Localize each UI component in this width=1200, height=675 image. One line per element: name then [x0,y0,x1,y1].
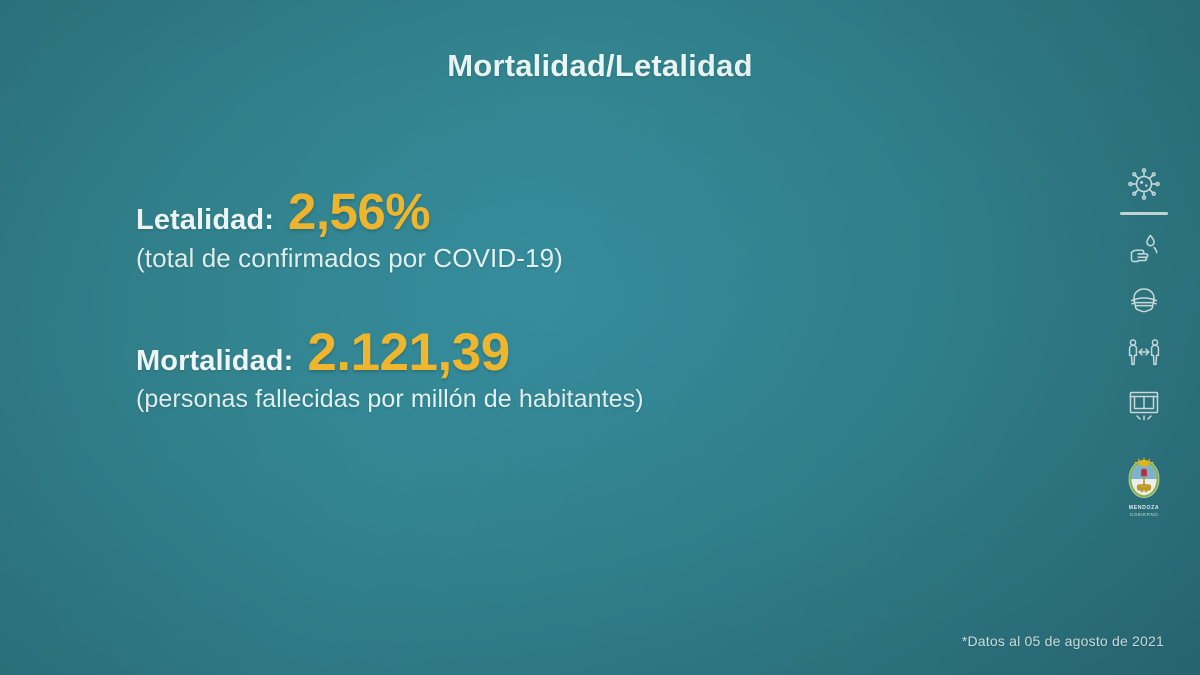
stat-mortalidad: Mortalidad: 2.121,39 (personas fallecida… [136,326,644,414]
stat-mortalidad-line: Mortalidad: 2.121,39 [136,326,644,379]
page-title: Mortalidad/Letalidad [0,48,1200,84]
slide-canvas: Mortalidad/Letalidad Letalidad: 2,56% (t… [0,0,1200,675]
coronavirus-icon [1124,164,1164,204]
data-date-footnote: *Datos al 05 de agosto de 2021 [962,633,1164,649]
stat-letalidad: Letalidad: 2,56% (total de confirmados p… [136,186,644,274]
stat-letalidad-label: Letalidad: [136,204,274,237]
stat-letalidad-value: 2,56% [288,186,430,237]
stats-group: Letalidad: 2,56% (total de confirmados p… [136,186,644,414]
stat-letalidad-line: Letalidad: 2,56% [136,186,644,237]
stat-letalidad-caption: (total de confirmados por COVID-19) [136,243,644,274]
hand-washing-icon [1124,229,1164,269]
prevention-icon-rail: MENDOZA GOBIERNO [1112,164,1176,517]
crest-svg [1122,451,1166,503]
crest-label: MENDOZA GOBIERNO [1129,506,1159,517]
social-distancing-icon [1124,333,1164,373]
stat-mortalidad-value: 2.121,39 [307,326,509,379]
ventilation-window-icon [1124,385,1164,425]
face-mask-icon [1124,281,1164,321]
rail-divider [1120,212,1168,215]
stat-mortalidad-caption: (personas fallecidas por millón de habit… [136,385,644,414]
argentina-coat-of-arms: MENDOZA GOBIERNO [1122,451,1166,517]
crest-label-line2: GOBIERNO [1129,512,1159,517]
stat-mortalidad-label: Mortalidad: [136,345,293,378]
